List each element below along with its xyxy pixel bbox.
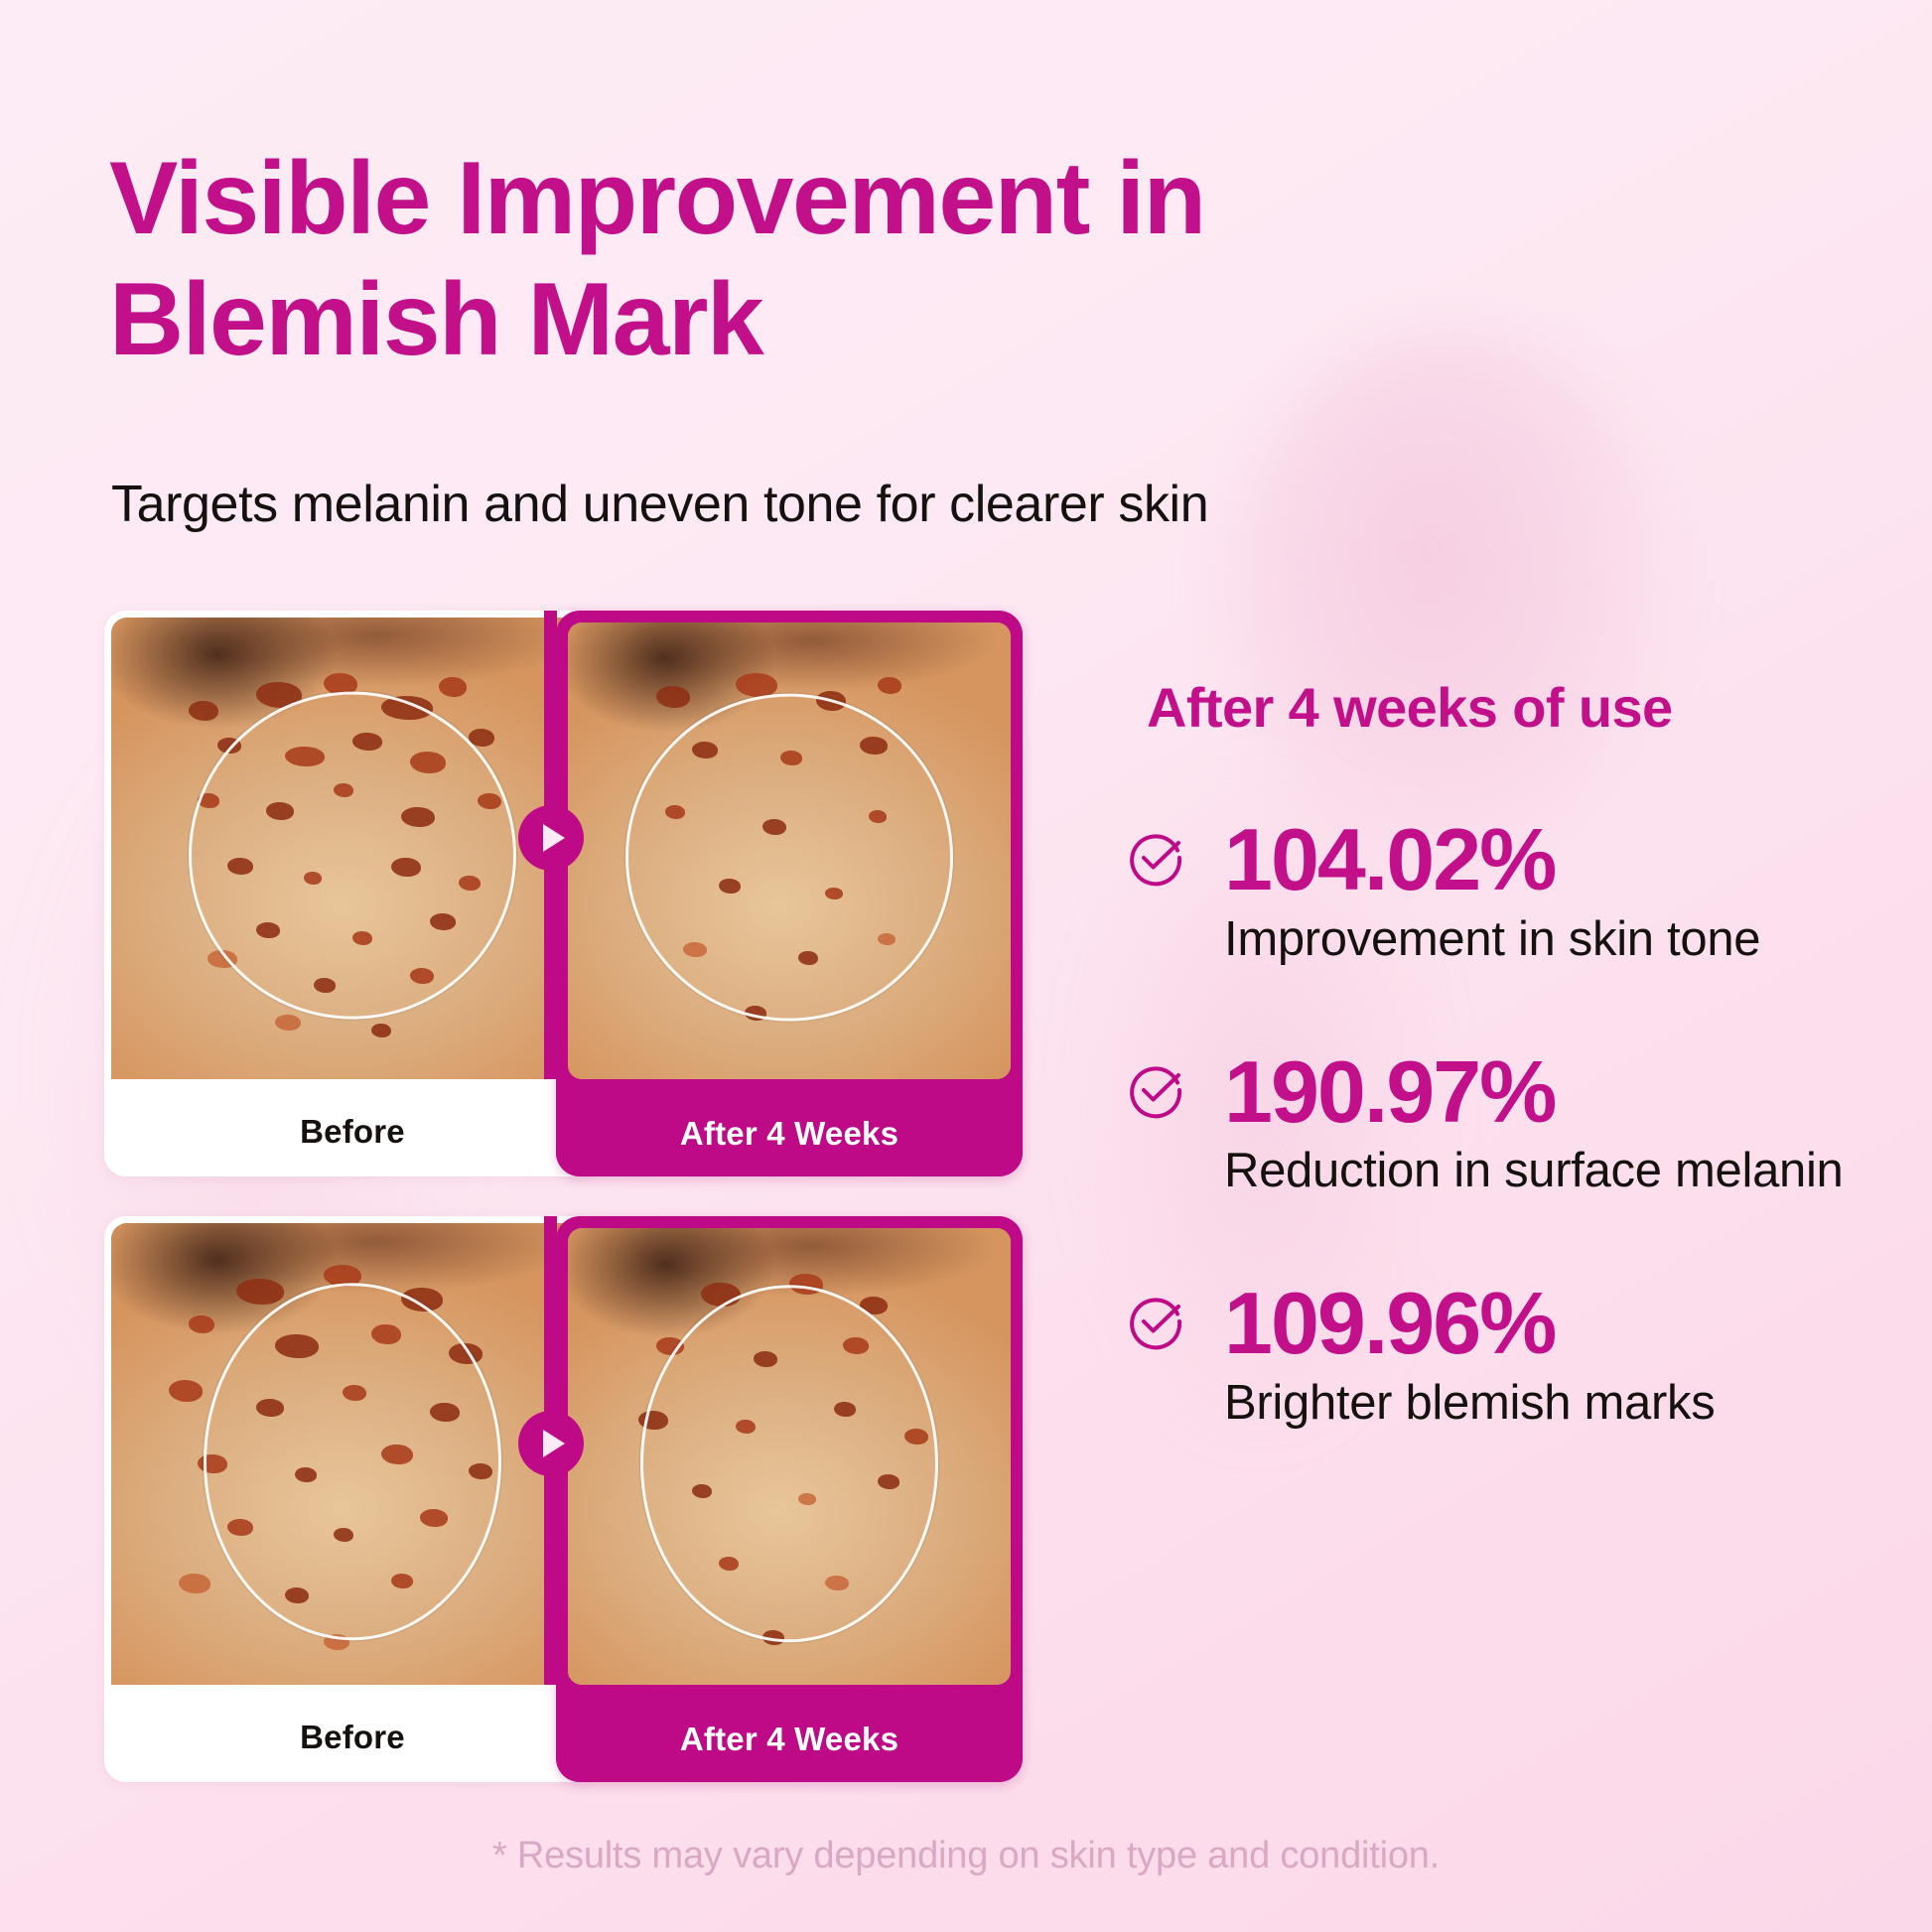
before-pane-1: Before <box>104 611 601 1176</box>
focus-circle-overlay <box>625 694 953 1022</box>
comparison-card-1: Before <box>104 611 1023 1176</box>
stat-value-2: 190.97% <box>1224 1047 1881 1137</box>
disclaimer-text: * Results may vary depending on skin typ… <box>0 1835 1932 1877</box>
circle-check-icon <box>1127 1061 1184 1119</box>
stat-item-2: 190.97% Reduction in surface melanin <box>1127 1047 1881 1202</box>
page-subtitle: Targets melanin and uneven tone for clea… <box>111 474 1600 535</box>
after-pane-1: After 4 Weeks <box>556 611 1023 1176</box>
stat-item-3: 109.96% Brighter blemish marks <box>1127 1279 1881 1434</box>
stat-label-3: Brighter blemish marks <box>1224 1374 1881 1434</box>
page-title: Visible Improvement in Blemish Mark <box>109 139 1598 380</box>
play-arrow-icon[interactable] <box>518 1411 584 1476</box>
stat-value-1: 104.02% <box>1224 815 1881 904</box>
focus-circle-overlay <box>189 691 516 1019</box>
after-caption-2: After 4 Weeks <box>556 1697 1023 1782</box>
stat-label-1: Improvement in skin tone <box>1224 910 1881 970</box>
focus-circle-overlay <box>640 1285 938 1642</box>
stat-item-1: 104.02% Improvement in skin tone <box>1127 815 1881 970</box>
after-pane-2: After 4 Weeks <box>556 1216 1023 1782</box>
before-pane-2: Before <box>104 1216 601 1782</box>
infographic-page: Visible Improvement in Blemish Mark Targ… <box>0 0 1932 1932</box>
play-arrow-icon[interactable] <box>518 805 584 871</box>
focus-circle-overlay <box>204 1283 501 1640</box>
circle-check-icon <box>1127 1293 1184 1350</box>
circle-check-icon <box>1127 829 1184 887</box>
stat-label-2: Reduction in surface melanin <box>1224 1142 1881 1201</box>
comparison-card-2: Before <box>104 1216 1023 1782</box>
after-caption-1: After 4 Weeks <box>556 1091 1023 1176</box>
before-caption-2: Before <box>104 1692 601 1782</box>
after-photo-1 <box>568 622 1011 1079</box>
after-photo-2 <box>568 1228 1011 1685</box>
stats-heading: After 4 weeks of use <box>1147 675 1881 740</box>
stat-value-3: 109.96% <box>1224 1279 1881 1368</box>
stats-column: After 4 weeks of use 104.02% Improvement… <box>1127 675 1881 1434</box>
before-caption-1: Before <box>104 1086 601 1176</box>
